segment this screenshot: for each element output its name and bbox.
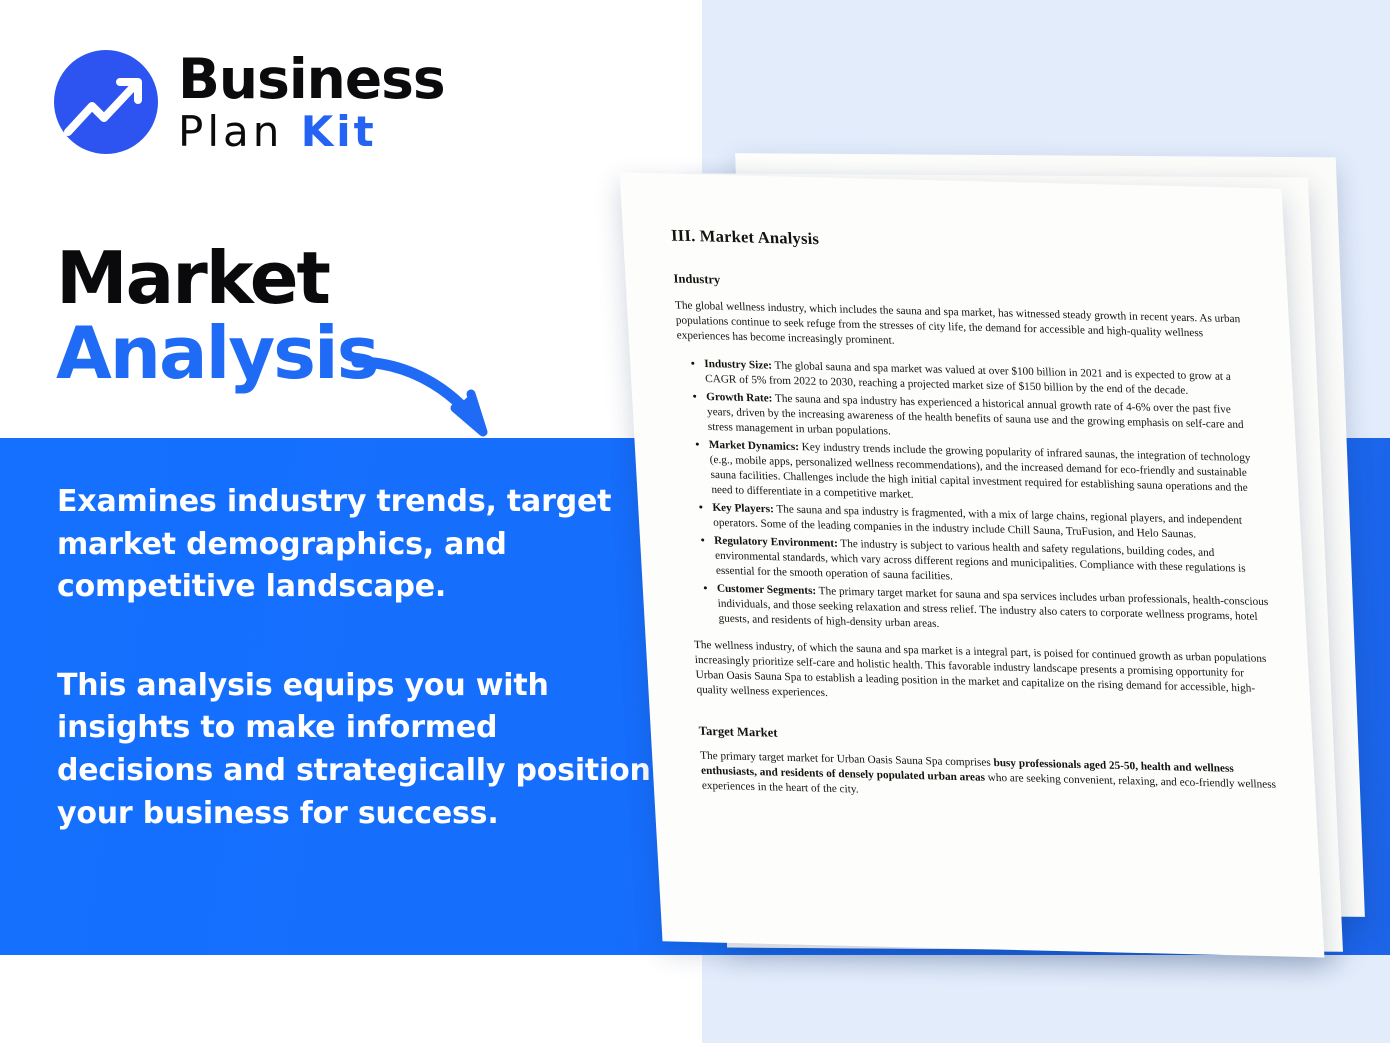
bullet-text: The sauna and spa industry has experienc… bbox=[707, 393, 1244, 438]
brand-logo: Business Plan Kit bbox=[52, 48, 445, 156]
brand-plan: Plan bbox=[178, 107, 283, 156]
slide-canvas: Business Plan Kit Market Analysis Examin… bbox=[0, 0, 1390, 1043]
bullet-label: Key Players: bbox=[712, 502, 774, 515]
doc-section-target-market: Target Market bbox=[698, 724, 1279, 753]
page-title: Market Analysis bbox=[56, 243, 378, 388]
list-item: Market Dynamics: Key industry trends inc… bbox=[708, 438, 1265, 511]
doc-section-industry: Industry bbox=[673, 272, 1254, 301]
bullet-label: Growth Rate: bbox=[706, 391, 773, 405]
page-title-line-1: Market bbox=[56, 243, 378, 314]
doc-title: III. Market Analysis bbox=[671, 226, 1252, 260]
bullet-label: Regulatory Environment: bbox=[714, 535, 838, 550]
panel-paragraph-1: Examines industry trends, target market … bbox=[57, 481, 657, 609]
bullet-label: Industry Size: bbox=[704, 358, 772, 372]
doc-target-market-paragraph: The primary target market for Urban Oasi… bbox=[700, 749, 1282, 808]
bullet-label: Market Dynamics: bbox=[709, 439, 800, 453]
growth-chart-circle-icon bbox=[52, 48, 160, 156]
curved-arrow-down-right-icon bbox=[345, 338, 515, 443]
brand-wordmark: Business Plan Kit bbox=[178, 52, 445, 153]
bullet-label: Customer Segments: bbox=[717, 583, 817, 597]
brand-line-1: Business bbox=[178, 52, 445, 107]
brand-kit: Kit bbox=[301, 107, 377, 156]
doc-intro-paragraph: The global wellness industry, which incl… bbox=[675, 298, 1257, 357]
document-sheet-front-content: III. Market Analysis Industry The global… bbox=[620, 173, 1325, 958]
page-title-line-2: Analysis bbox=[56, 318, 378, 389]
panel-copy: Examines industry trends, target market … bbox=[57, 481, 657, 835]
doc-bullet-list: Industry Size: The global sauna and spa … bbox=[678, 356, 1273, 640]
list-item: Customer Segments: The primary target ma… bbox=[717, 582, 1273, 640]
document-sheet-front: III. Market Analysis Industry The global… bbox=[620, 173, 1325, 958]
document-stack: III. Market Analysis Industry The global… bbox=[600, 120, 1390, 950]
panel-paragraph-2: This analysis equips you with insights t… bbox=[57, 665, 657, 835]
brand-line-2: Plan Kit bbox=[178, 111, 445, 153]
doc-closing-paragraph: The wellness industry, of which the saun… bbox=[694, 638, 1277, 712]
background-white-bottom-left bbox=[0, 955, 702, 1043]
